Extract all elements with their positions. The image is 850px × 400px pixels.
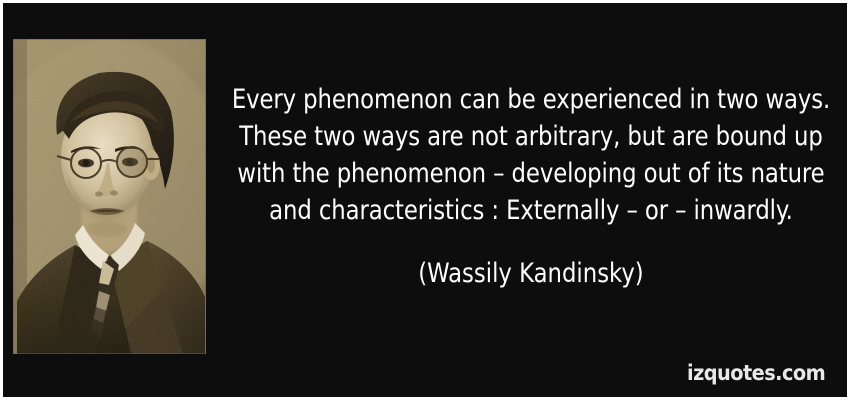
quote-line-1: Every phenomenon can be experienced in t… (227, 81, 834, 118)
site-watermark: izquotes.com (687, 361, 825, 385)
quote-attribution: (Wassily Kandinsky) (227, 257, 834, 291)
quote-line-3: with the phenomenon – developing out of … (227, 155, 834, 192)
quote-line-4: and characteristics : Externally – or – … (227, 192, 834, 229)
portrait-frame (13, 39, 206, 354)
kandinsky-portrait-image (13, 39, 206, 354)
quote-text-block: Every phenomenon can be experienced in t… (213, 81, 849, 291)
quote-line-2: These two ways are not arbitrary, but ar… (227, 118, 834, 155)
quote-card: Every phenomenon can be experienced in t… (0, 0, 850, 400)
